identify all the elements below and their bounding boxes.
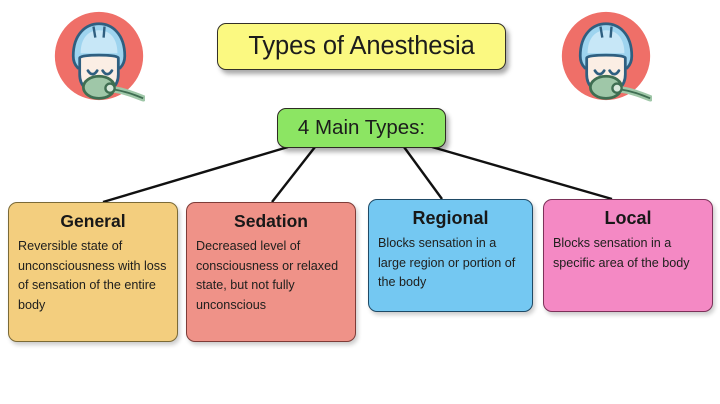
type-card-title: General xyxy=(18,210,168,232)
page-title: Types of Anesthesia xyxy=(217,23,506,70)
type-card-body: Reversible state of unconsciousness with… xyxy=(18,237,168,315)
type-card-title: Local xyxy=(553,207,703,229)
type-card-body: Decreased level of consciousness or rela… xyxy=(196,237,346,315)
main-types-hub-text: 4 Main Types: xyxy=(298,116,425,140)
type-card-title: Regional xyxy=(378,207,523,229)
anesthesia-patient-icon-left xyxy=(53,10,145,102)
anesthesia-infographic: Types of Anesthesia 4 Main Types: Genera… xyxy=(0,0,720,404)
type-card-body: Blocks sensation in a large region or po… xyxy=(378,234,523,293)
connector-line-sedation xyxy=(272,147,315,202)
main-types-hub: 4 Main Types: xyxy=(277,108,446,148)
page-title-text: Types of Anesthesia xyxy=(248,32,474,61)
type-card-regional: Regional Blocks sensation in a large reg… xyxy=(368,199,533,312)
type-card-local: Local Blocks sensation in a specific are… xyxy=(543,199,713,312)
connector-line-local xyxy=(432,147,612,199)
connector-line-regional xyxy=(404,147,442,199)
anesthesia-patient-icon-right xyxy=(560,10,652,102)
type-card-general: General Reversible state of unconsciousn… xyxy=(8,202,178,342)
type-card-body: Blocks sensation in a specific area of t… xyxy=(553,234,703,273)
type-card-title: Sedation xyxy=(196,210,346,232)
type-card-sedation: Sedation Decreased level of consciousnes… xyxy=(186,202,356,342)
connector-line-general xyxy=(103,147,288,202)
